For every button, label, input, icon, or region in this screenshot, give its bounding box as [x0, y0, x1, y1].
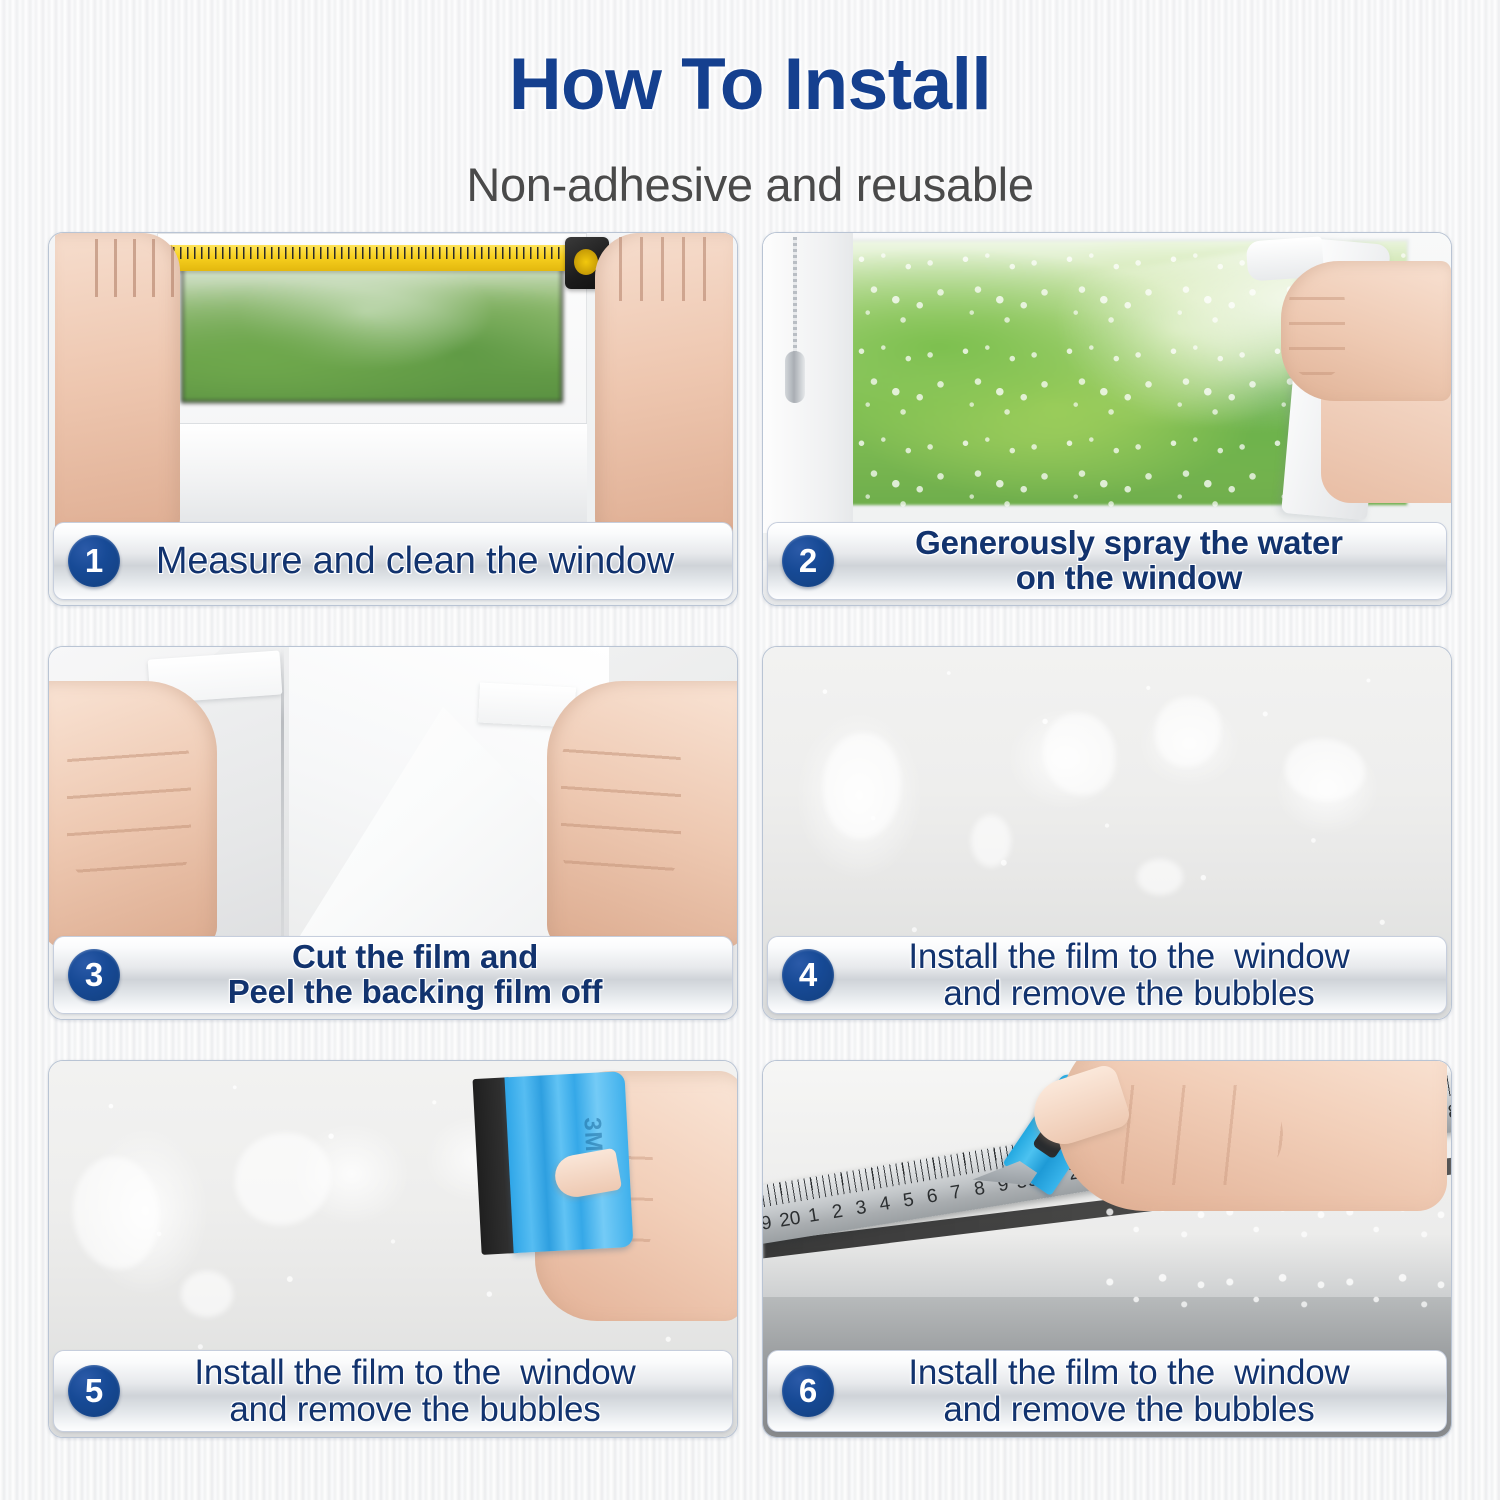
- ruler-mark: 7: [942, 1180, 969, 1206]
- bubble: [1155, 697, 1221, 767]
- blind-chain-weight-icon: [785, 351, 805, 403]
- step-caption-text-2: Generously spray the water on the window: [834, 526, 1436, 596]
- caption-line: and remove the bubbles: [120, 1391, 710, 1428]
- caption-line: on the window: [834, 561, 1424, 596]
- caption-line: and remove the bubbles: [834, 975, 1424, 1012]
- step-caption-text-5: Install the film to the window and remov…: [120, 1354, 722, 1428]
- bubble: [1285, 739, 1365, 801]
- caption-line: Install the film to the window: [834, 938, 1424, 975]
- caption-line: Install the film to the window: [120, 1354, 710, 1391]
- bubble: [181, 1271, 233, 1317]
- step-caption-5: 5 Install the film to the window and rem…: [53, 1350, 733, 1432]
- caption-line: Measure and clean the window: [120, 541, 710, 581]
- ruler-mark: 2: [824, 1200, 851, 1226]
- step-number-badge-4: 4: [782, 949, 834, 1001]
- ruler-mark: 3: [848, 1196, 875, 1222]
- right-hand: [547, 681, 737, 947]
- step-number-badge-6: 6: [782, 1365, 834, 1417]
- page-subtitle: Non-adhesive and reusable: [0, 157, 1500, 212]
- ruler-mark: 6: [919, 1184, 946, 1210]
- window-sill: [157, 423, 587, 525]
- step-card-2: 2 Generously spray the water on the wind…: [762, 232, 1452, 606]
- window-frame-left: [763, 233, 853, 533]
- step-number-badge-5: 5: [68, 1365, 120, 1417]
- step-caption-3: 3 Cut the film and Peel the backing film…: [53, 936, 733, 1014]
- bubble: [73, 1157, 159, 1269]
- caption-line: Cut the film and: [120, 940, 710, 975]
- header: How To Install Non-adhesive and reusable: [0, 0, 1500, 212]
- step-number-badge-2: 2: [782, 535, 834, 587]
- tape-measure-icon: [131, 245, 579, 271]
- caption-line: and remove the bubbles: [834, 1391, 1424, 1428]
- caption-line: Peel the backing film off: [120, 975, 710, 1010]
- bubble: [1137, 859, 1183, 895]
- step-card-6: 920123456789301234567894012345678 6 Inst…: [762, 1060, 1452, 1438]
- bubble: [1043, 713, 1115, 795]
- window-glass-trees: [181, 251, 563, 403]
- steps-grid: 1 Measure and clean the window: [48, 232, 1452, 1438]
- step-caption-text-3: Cut the film and Peel the backing film o…: [120, 940, 722, 1010]
- left-hand: [49, 681, 217, 947]
- step-number-badge-1: 1: [68, 535, 120, 587]
- right-hand: [595, 233, 733, 533]
- bubble: [823, 733, 901, 839]
- page-title: How To Install: [0, 48, 1500, 121]
- ruler-mark: 20: [777, 1207, 804, 1233]
- step-caption-text-4: Install the film to the window and remov…: [834, 938, 1436, 1012]
- step-card-3: 3 Cut the film and Peel the backing film…: [48, 646, 738, 1020]
- step-caption-text-6: Install the film to the window and remov…: [834, 1354, 1436, 1428]
- bubble: [235, 1133, 331, 1225]
- step-caption-text-1: Measure and clean the window: [120, 541, 722, 581]
- ruler-mark: 1: [800, 1204, 827, 1230]
- caption-line: Install the film to the window: [834, 1354, 1424, 1391]
- step-card-5: 5 Install the film to the window and rem…: [48, 1060, 738, 1438]
- bubble: [971, 815, 1011, 867]
- step-caption-4: 4 Install the film to the window and rem…: [767, 936, 1447, 1014]
- step-card-4: 4 Install the film to the window and rem…: [762, 646, 1452, 1020]
- ruler-mark: 4: [871, 1192, 898, 1218]
- step-caption-6: 6 Install the film to the window and rem…: [767, 1350, 1447, 1432]
- infographic-page: How To Install Non-adhesive and reusable…: [0, 0, 1500, 1500]
- step-caption-2: 2 Generously spray the water on the wind…: [767, 522, 1447, 600]
- blind-chain-icon: [793, 237, 797, 357]
- step-caption-1: 1 Measure and clean the window: [53, 522, 733, 600]
- left-hand: [55, 233, 180, 533]
- caption-line: Generously spray the water: [834, 526, 1424, 561]
- ruler-mark: 5: [895, 1188, 922, 1214]
- step-card-1: 1 Measure and clean the window: [48, 232, 738, 606]
- hand-holding-bottle: [1281, 261, 1451, 401]
- step-number-badge-3: 3: [68, 949, 120, 1001]
